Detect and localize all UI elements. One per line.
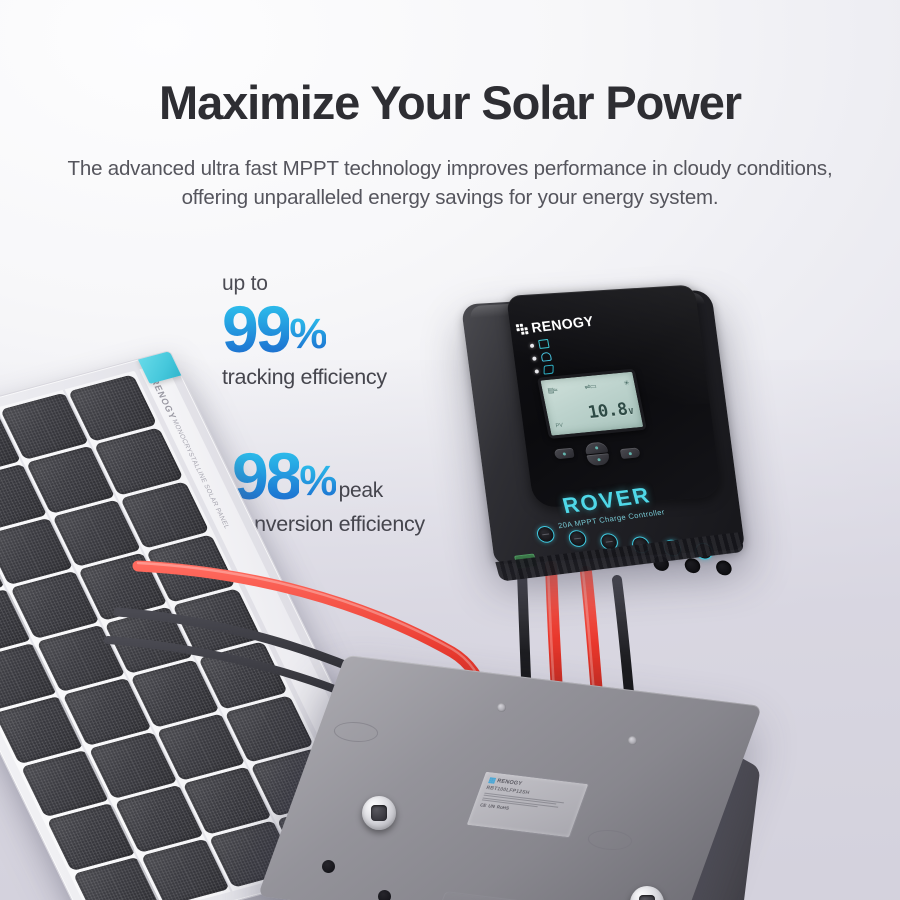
page-subtitle: The advanced ultra fast MPPT technology … — [55, 154, 845, 212]
battery-screw — [497, 703, 506, 712]
controller-housing: RENOGY ▤≈ ⇌▭ ☀ PV 10.8V — [461, 289, 745, 564]
left-button[interactable] — [554, 448, 575, 460]
product-marketing-image: Maximize Your Solar Power The advanced u… — [0, 0, 900, 900]
stat-percent-sign: % — [299, 457, 335, 506]
cable-port — [714, 560, 733, 576]
header: Maximize Your Solar Power The advanced u… — [0, 78, 900, 212]
down-button[interactable] — [586, 453, 610, 466]
battery-status-led — [532, 356, 537, 360]
solar-panel-icon — [538, 339, 550, 349]
led-row — [532, 352, 552, 363]
lcd-voltage-unit: V — [628, 407, 634, 416]
load-status-led — [534, 369, 539, 373]
lcd-voltage-value: 10.8V — [586, 399, 634, 423]
up-button[interactable] — [584, 441, 608, 454]
terminal-screw[interactable] — [535, 525, 556, 544]
solar-panel-icon: ▤≈ — [547, 386, 558, 395]
battery-hole — [378, 890, 391, 900]
mppt-charge-controller: RENOGY ▤≈ ⇌▭ ☀ PV 10.8V — [478, 282, 746, 582]
stat-inline-suffix: peak — [339, 479, 383, 503]
cert-mark: CE — [479, 802, 487, 808]
led-row — [529, 339, 549, 350]
cert-mark: RoHS — [496, 805, 510, 811]
stat-percent-sign: % — [289, 310, 325, 359]
terminal-screw[interactable] — [567, 529, 588, 548]
battery-flow-icon: ⇌▭ — [584, 382, 597, 391]
battery-hole — [322, 860, 335, 873]
positive-terminal[interactable] — [362, 796, 396, 830]
renogy-logo-icon — [488, 777, 496, 783]
led-row — [534, 365, 554, 376]
battery-icon — [540, 352, 552, 362]
load-lamp-icon — [544, 364, 554, 374]
battery-screw — [628, 736, 637, 745]
load-lamp-icon: ☀ — [623, 379, 630, 387]
page-title: Maximize Your Solar Power — [40, 78, 860, 128]
lcd-small-label: PV — [555, 423, 564, 430]
right-button[interactable] — [620, 447, 641, 459]
renogy-logo-icon — [516, 323, 529, 335]
cert-mark: UN — [487, 804, 495, 810]
cable-port — [683, 557, 702, 573]
solar-panel: RENOGY MONOCRYSTALLINE SOLAR PANEL — [0, 350, 260, 900]
controller-lcd-display: ▤≈ ⇌▭ ☀ PV 10.8V — [537, 368, 647, 438]
lithium-battery: RENOGY RBT100LFP12SH CE UN RoHS — [300, 648, 770, 900]
charging-indicator-led — [530, 343, 535, 347]
